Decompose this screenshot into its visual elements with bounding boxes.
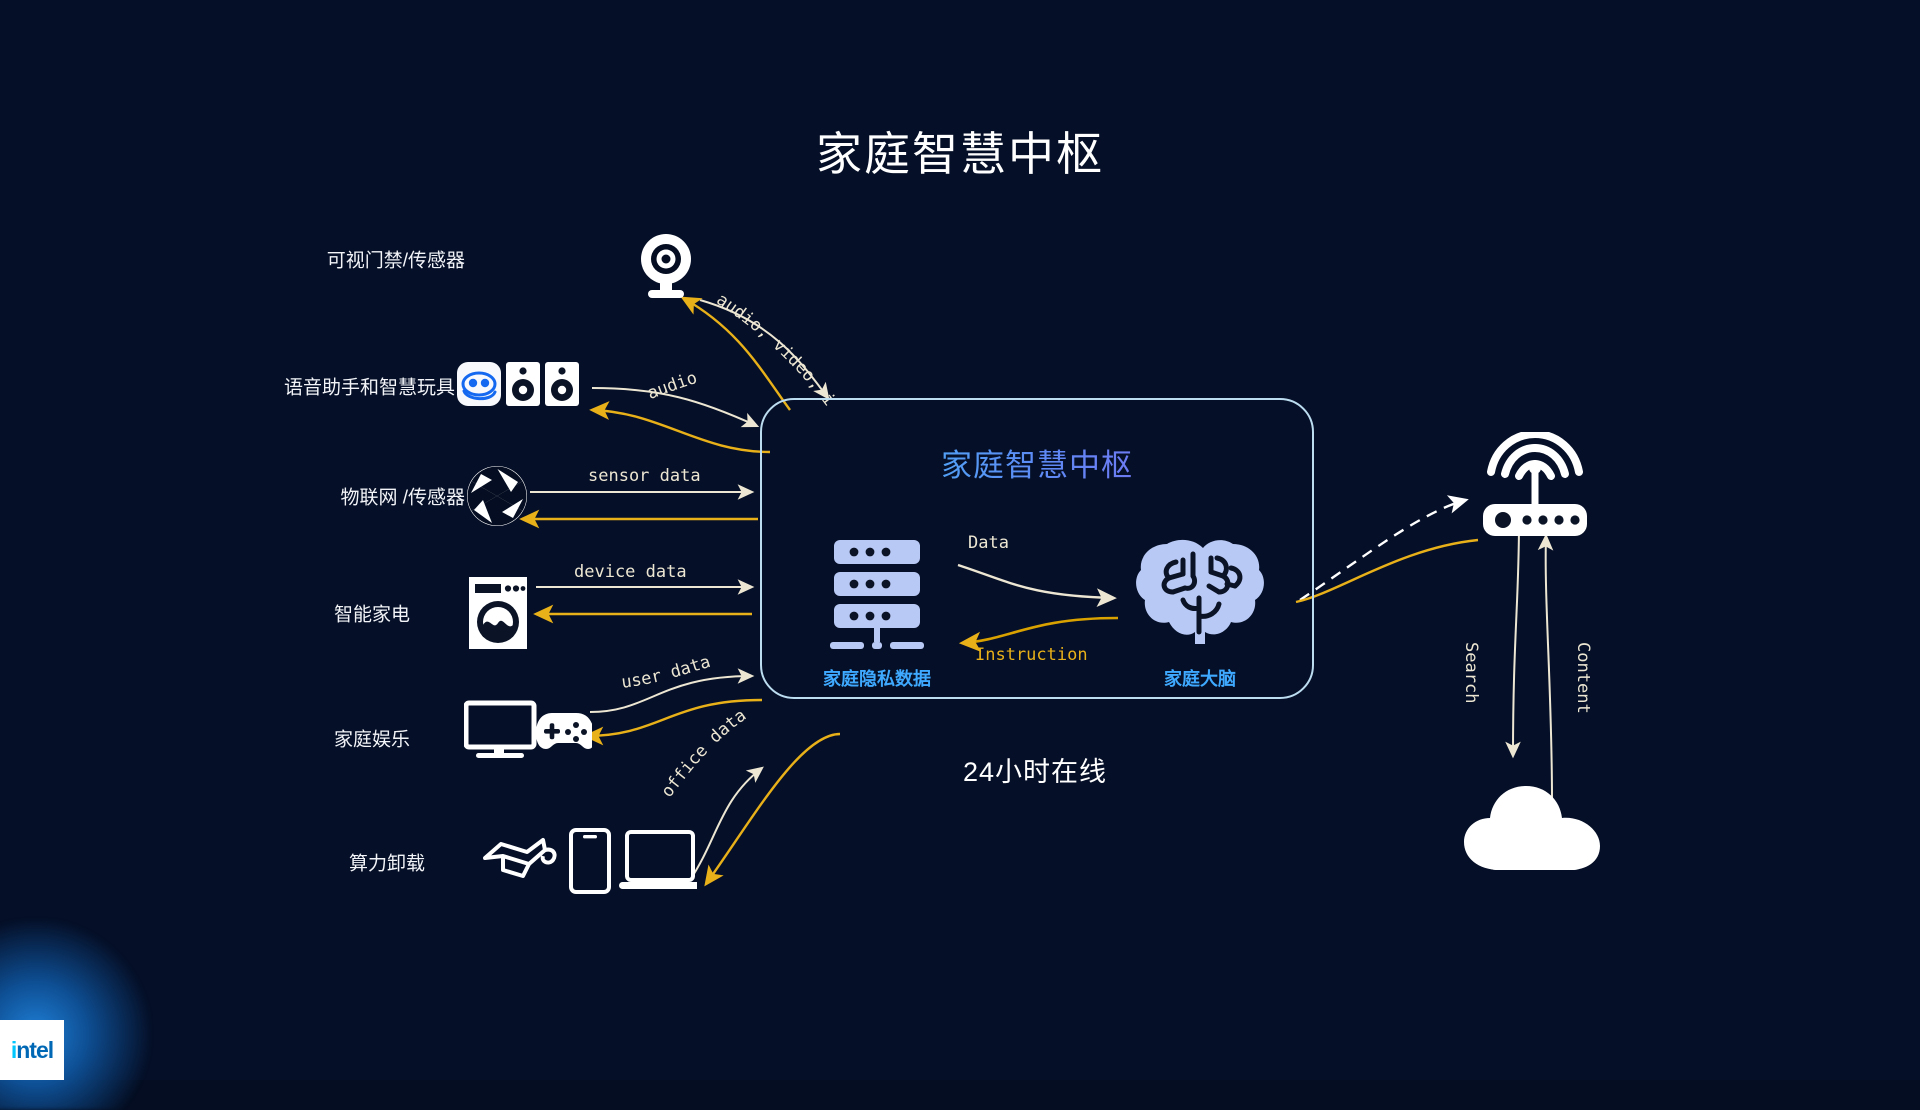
glasses-phone-laptop-icon bbox=[479, 824, 697, 896]
webcam-icon bbox=[634, 230, 698, 302]
hub-node-label-privacy-data: 家庭隐私数据 bbox=[823, 665, 931, 691]
source-label-smart-appliance: 智能家电 bbox=[334, 600, 410, 627]
edge-label-entertainment: user data bbox=[620, 652, 713, 693]
source-label-iot-sensor: 物联网 /传感器 bbox=[340, 483, 465, 510]
brand-glow bbox=[0, 920, 150, 1110]
cloud-icon bbox=[1460, 782, 1610, 874]
source-label-compute-offload: 算力卸载 bbox=[349, 849, 425, 876]
intel-logo: intel bbox=[0, 1020, 64, 1080]
edge-label-iot: sensor data bbox=[588, 466, 701, 486]
wifi-router-icon bbox=[1475, 432, 1595, 548]
aperture-icon bbox=[466, 465, 528, 527]
edge-label-offload: office data bbox=[657, 706, 750, 802]
source-label-door-access: 可视门禁/传感器 bbox=[327, 246, 465, 273]
intel-logo-text: intel bbox=[11, 1037, 53, 1064]
edge-label-appliance: device data bbox=[574, 562, 687, 582]
hub-title: 家庭智慧中枢 bbox=[762, 440, 1312, 485]
hub-node-label-home-brain: 家庭大脑 bbox=[1164, 665, 1236, 691]
edge-label-content: Content bbox=[1573, 642, 1593, 714]
server-stack-icon bbox=[830, 538, 924, 662]
brand-corner: intel bbox=[0, 880, 200, 1080]
tv-gamepad-icon bbox=[464, 699, 592, 761]
edge-label-search: Search bbox=[1461, 642, 1481, 704]
source-label-home-entertainment: 家庭娱乐 bbox=[334, 725, 410, 752]
edge-label-door-access: audio, video, image bbox=[0, 0, 839, 410]
uptime-label: 24小时在线 bbox=[760, 750, 1310, 789]
brain-icon bbox=[1131, 538, 1269, 650]
edge-label-voice: audio bbox=[645, 368, 700, 404]
intel-logo-rest: ntel bbox=[16, 1037, 53, 1063]
diagram-canvas: 家庭智慧中枢 bbox=[0, 0, 1920, 1080]
washing-machine-icon bbox=[467, 575, 529, 651]
source-label-voice-assistant: 语音助手和智慧玩具 bbox=[284, 373, 455, 400]
chatbot-speakers-icon bbox=[457, 360, 583, 408]
